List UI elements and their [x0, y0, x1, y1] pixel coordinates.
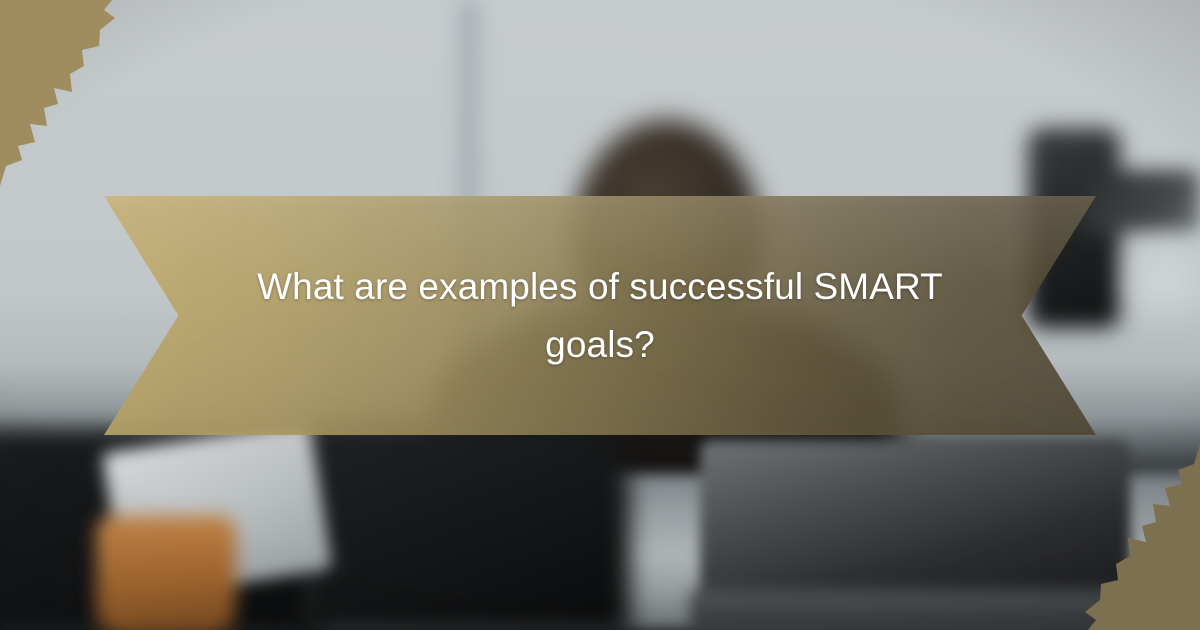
screenshot-canvas: What are examples of successful SMART go… [0, 0, 1200, 630]
headline-text: What are examples of successful SMART go… [224, 196, 976, 435]
headline-ribbon: What are examples of successful SMART go… [104, 196, 1096, 435]
